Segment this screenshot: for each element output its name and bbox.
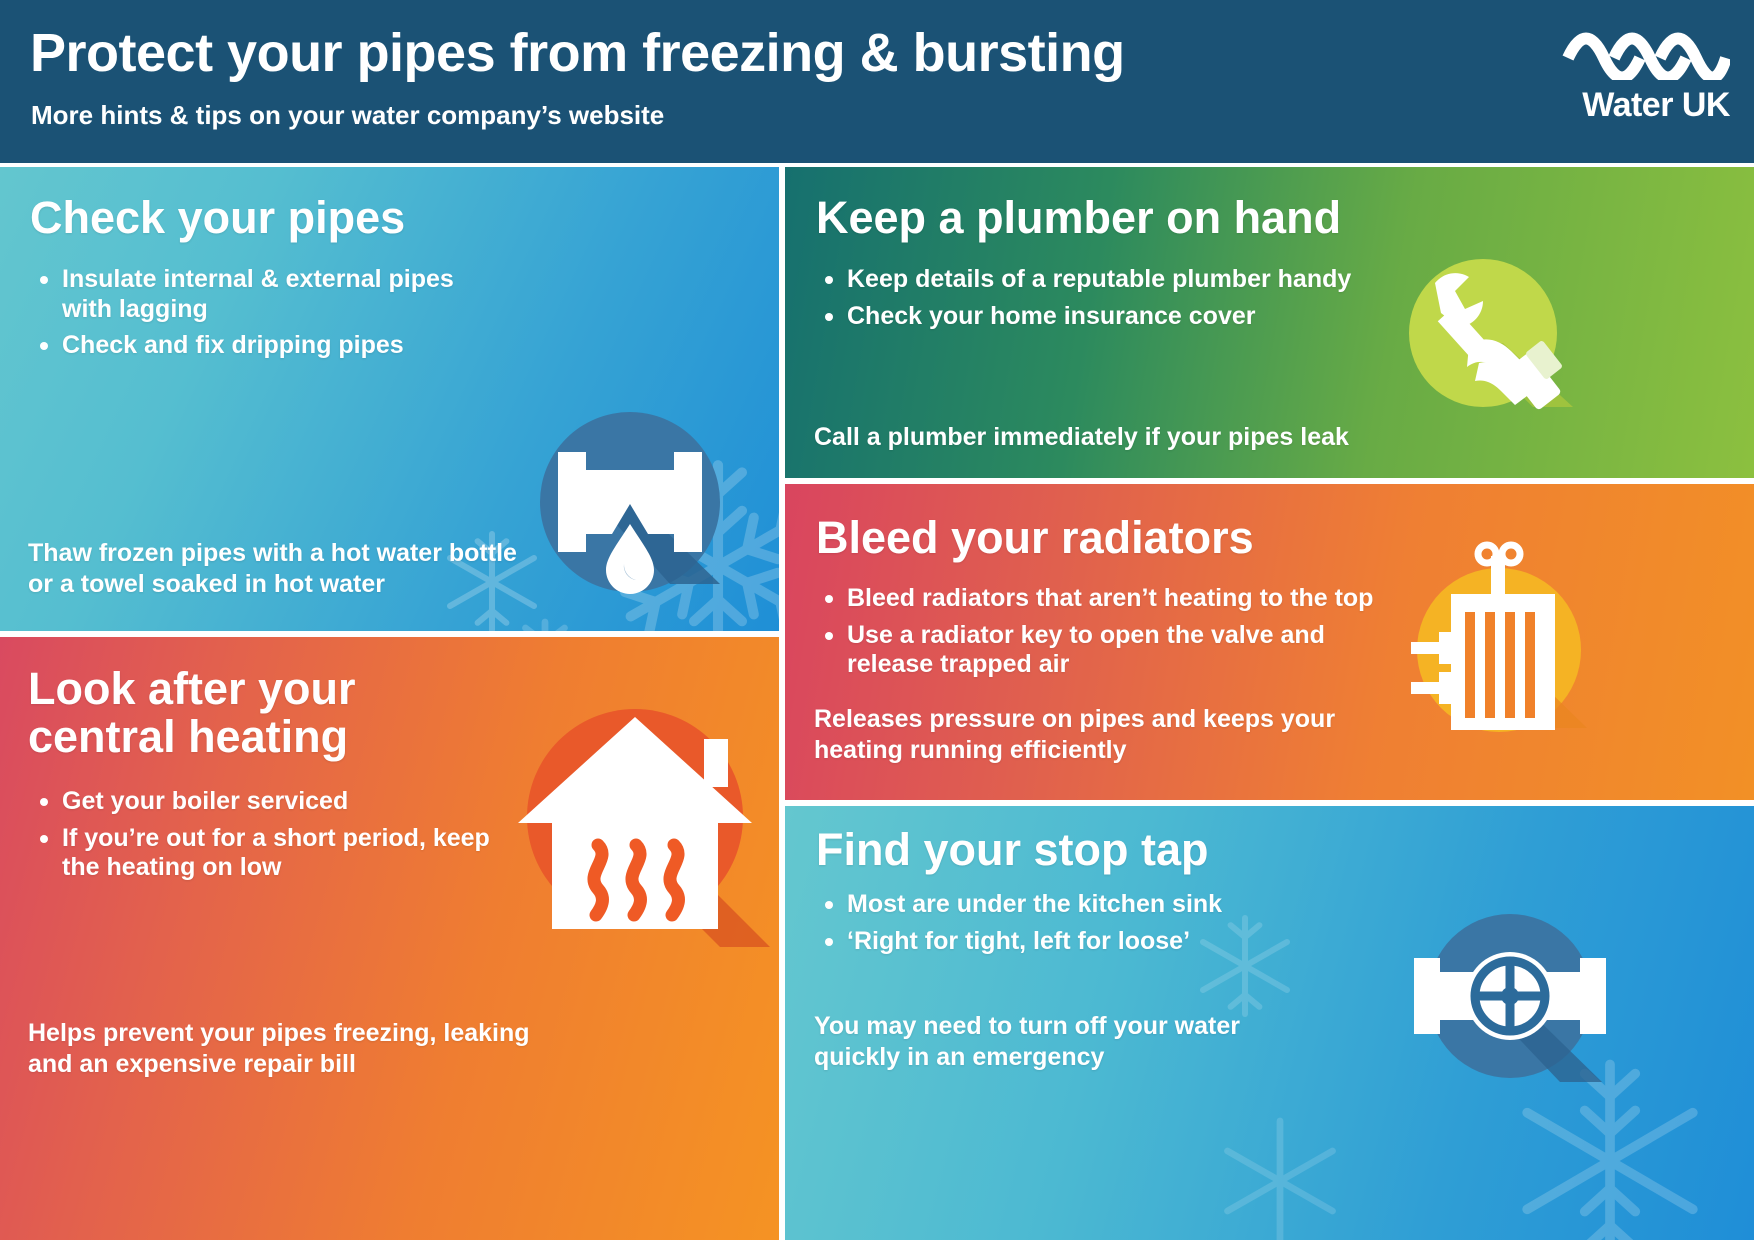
list-item: Use a radiator key to open the valve and… — [817, 621, 1397, 680]
panel-look-after-your-central-heating: Look after your central heating Get your… — [0, 637, 779, 1240]
snowflake-icon — [1205, 1106, 1355, 1240]
panel-bullet-list: Keep details of a reputable plumber hand… — [817, 265, 1417, 338]
panel-title: Find your stop tap — [816, 826, 1208, 874]
list-item: Check your home insurance cover — [817, 302, 1417, 332]
panel-bullet-list: Insulate internal & external pipes with … — [32, 265, 472, 368]
header-banner: Protect your pipes from freezing & burst… — [0, 0, 1754, 163]
panel-title: Look after your central heating — [28, 665, 428, 760]
panel-footer-text: You may need to turn off your water quic… — [814, 1011, 1274, 1072]
water-uk-logo: Water UK — [1560, 28, 1730, 138]
panel-title: Keep a plumber on hand — [816, 194, 1341, 242]
panel-title: Bleed your radiators — [816, 514, 1254, 562]
three-waves-icon — [1560, 28, 1730, 80]
leaking-pipe-icon — [520, 412, 740, 612]
list-item: Insulate internal & external pipes with … — [32, 265, 472, 324]
panel-footer-text: Releases pressure on pipes and keeps you… — [814, 704, 1354, 765]
panel-footer-text: Thaw frozen pipes with a hot water bottl… — [28, 538, 548, 599]
panel-find-your-stop-tap: Find your stop tap Most are under the ki… — [785, 806, 1754, 1240]
panel-bullet-list: Get your boiler serviced If you’re out f… — [32, 787, 492, 890]
list-item: If you’re out for a short period, keep t… — [32, 824, 492, 883]
heated-house-icon — [490, 677, 779, 957]
panel-keep-a-plumber-on-hand: Keep a plumber on hand Keep details of a… — [785, 167, 1754, 478]
radiator-icon — [1381, 532, 1611, 752]
logo-wordmark: Water UK — [1560, 86, 1730, 125]
panel-title: Check your pipes — [30, 194, 405, 242]
list-item: Keep details of a reputable plumber hand… — [817, 265, 1417, 295]
panel-check-your-pipes: Check your pipes Insulate internal & ext… — [0, 167, 779, 631]
panel-footer-text: Call a plumber immediately if your pipes… — [814, 422, 1514, 453]
list-item: Most are under the kitchen sink — [817, 890, 1377, 920]
panel-bullet-list: Bleed radiators that aren’t heating to t… — [817, 584, 1397, 687]
list-item: Check and fix dripping pipes — [32, 331, 472, 361]
page-subtitle: More hints & tips on your water company’… — [31, 100, 664, 131]
infographic-poster: Protect your pipes from freezing & burst… — [0, 0, 1754, 1240]
page-title: Protect your pipes from freezing & burst… — [30, 22, 1125, 84]
list-item: ‘Right for tight, left for loose’ — [817, 927, 1377, 957]
panel-footer-text: Helps prevent your pipes freezing, leaki… — [28, 1018, 568, 1079]
list-item: Bleed radiators that aren’t heating to t… — [817, 584, 1397, 614]
panel-bullet-list: Most are under the kitchen sink ‘Right f… — [817, 890, 1377, 963]
panel-bleed-your-radiators: Bleed your radiators Bleed radiators tha… — [785, 484, 1754, 800]
stop-tap-valve-icon — [1380, 896, 1640, 1116]
list-item: Get your boiler serviced — [32, 787, 492, 817]
